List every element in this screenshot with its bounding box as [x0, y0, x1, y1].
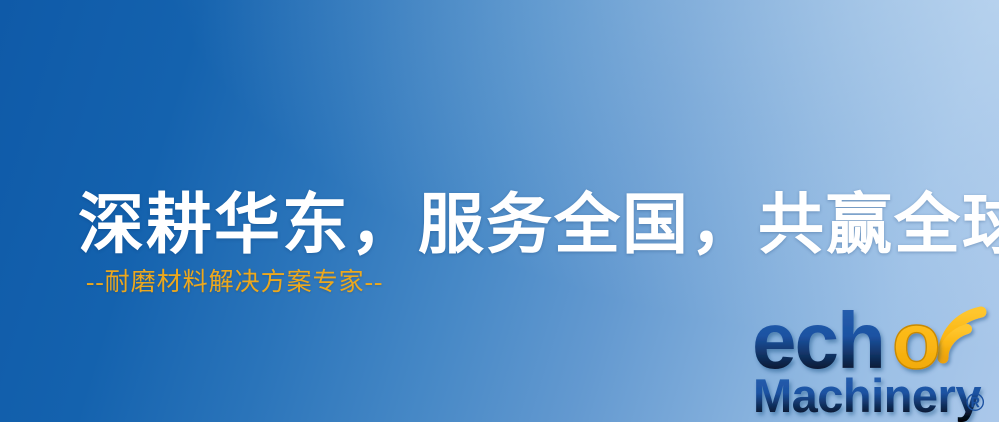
- registered-trademark-icon: ®: [966, 389, 985, 417]
- banner-headline: 深耕华东，服务全国，共赢全球: [78, 190, 958, 262]
- signal-waves-icon: [943, 312, 981, 358]
- registered-trademark-text: ®: [966, 389, 985, 417]
- logo-tagline-text: Machinery: [753, 369, 981, 422]
- echo-machinery-logo[interactable]: ech o Machinery ®: [752, 296, 999, 422]
- hero-banner: 深耕华东，服务全国，共赢全球 --耐磨材料解决方案专家--: [0, 0, 999, 422]
- banner-subtitle: --耐磨材料解决方案专家--: [86, 268, 383, 298]
- logo-tagline: Machinery: [753, 369, 981, 422]
